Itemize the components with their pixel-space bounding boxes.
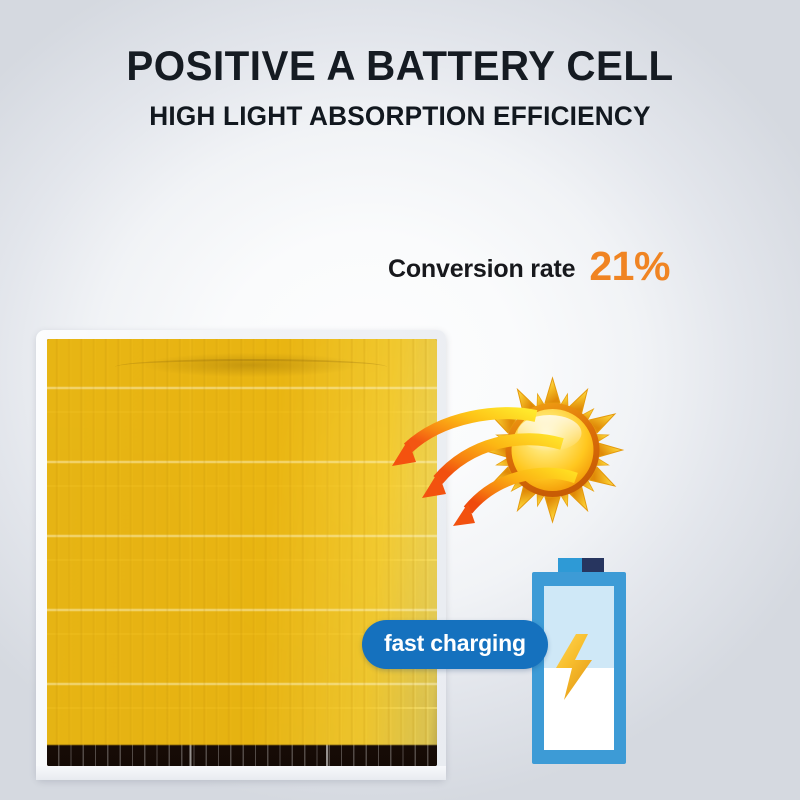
product-infographic: POSITIVE A BATTERY CELL HIGH LIGHT ABSOR… — [0, 0, 800, 800]
solar-panel-graphic — [36, 330, 446, 780]
page-title: POSITIVE A BATTERY CELL — [16, 44, 784, 88]
light-ray-arrow-icon — [350, 400, 580, 550]
fast-charging-badge: fast charging — [362, 620, 548, 669]
page-subtitle: HIGH LIGHT ABSORPTION EFFICIENCY — [12, 102, 788, 130]
battery-terminal-right — [582, 558, 604, 574]
headings-block: POSITIVE A BATTERY CELL HIGH LIGHT ABSOR… — [0, 44, 800, 130]
battery-charged-fill — [544, 586, 614, 668]
conversion-rate-block: Conversion rate 21% — [388, 240, 670, 287]
conversion-rate-label: Conversion rate — [388, 255, 575, 284]
battery-icon — [520, 558, 638, 776]
battery-terminal-left — [558, 558, 582, 574]
conversion-rate-value: 21% — [589, 243, 670, 290]
